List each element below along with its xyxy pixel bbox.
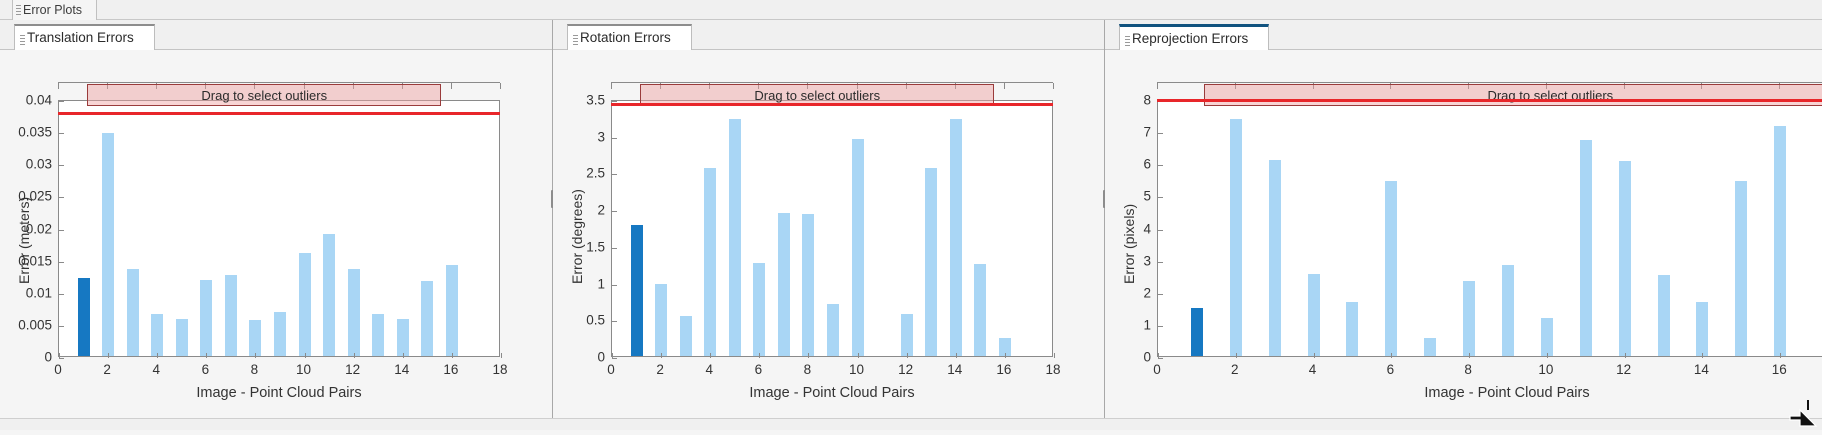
panel-translation-errors: Translation Errors 00.0050.010.0150.020.… <box>0 20 552 430</box>
x-tick-mark <box>858 353 859 358</box>
x-tick-label: 10 <box>296 362 311 377</box>
x-tick-label: 16 <box>996 362 1011 377</box>
y-tick-mark <box>612 248 617 249</box>
bar[interactable] <box>655 284 667 356</box>
chart-translation-errors: 00.0050.010.0150.020.0250.030.0350.04024… <box>0 50 552 430</box>
x-tick-mark <box>305 353 306 358</box>
x-tick-mark <box>1236 353 1237 358</box>
bar[interactable] <box>1580 140 1592 356</box>
y-tick-label: 0.035 <box>0 125 52 140</box>
x-tick-label: 8 <box>804 362 812 377</box>
band-tick <box>1157 83 1158 89</box>
y-tick-mark <box>612 285 617 286</box>
x-tick-label: 14 <box>394 362 409 377</box>
y-tick-mark <box>59 165 64 166</box>
x-tick-label: 12 <box>345 362 360 377</box>
x-tick-mark <box>710 353 711 358</box>
bar[interactable] <box>1619 161 1631 356</box>
x-tick-mark <box>1547 353 1548 358</box>
y-tick-label: 7 <box>1091 125 1151 140</box>
y-tick-label: 0 <box>545 350 605 365</box>
bar[interactable] <box>299 253 311 356</box>
x-tick-mark <box>612 353 613 358</box>
y-axis-label: Error (meters) <box>16 196 32 283</box>
x-tick-label: 12 <box>1616 362 1631 377</box>
tab-label: Translation Errors <box>27 30 134 45</box>
y-tick-mark <box>612 321 617 322</box>
bar[interactable] <box>753 263 765 356</box>
document-tab-label: Error Plots <box>23 3 82 17</box>
x-tick-label: 10 <box>1538 362 1553 377</box>
y-tick-label: 5 <box>1091 189 1151 204</box>
bar[interactable] <box>1424 338 1436 356</box>
y-tick-mark <box>1158 294 1163 295</box>
tab-translation-errors[interactable]: Translation Errors <box>14 24 155 50</box>
x-tick-mark <box>759 353 760 358</box>
bar[interactable] <box>176 319 188 356</box>
x-tick-label: 6 <box>755 362 763 377</box>
x-tick-mark <box>452 353 453 358</box>
x-tick-mark <box>1005 353 1006 358</box>
x-axis-label: Image - Point Cloud Pairs <box>58 385 500 401</box>
x-tick-label: 18 <box>1045 362 1060 377</box>
y-tick-label: 0.01 <box>0 285 52 300</box>
bar[interactable] <box>372 314 384 356</box>
outlier-threshold-line[interactable] <box>1157 99 1822 102</box>
x-tick-label: 8 <box>1464 362 1472 377</box>
bar[interactable] <box>827 304 839 356</box>
x-tick-label: 16 <box>1772 362 1787 377</box>
y-tick-mark <box>1158 230 1163 231</box>
y-tick-label: 3.5 <box>545 93 605 108</box>
x-tick-mark <box>354 353 355 358</box>
x-tick-label: 4 <box>1309 362 1317 377</box>
x-tick-mark <box>1054 353 1055 358</box>
bar[interactable] <box>778 213 790 356</box>
bar[interactable] <box>421 281 433 356</box>
axes-reprojection <box>1157 100 1822 357</box>
y-tick-label: 0.03 <box>0 157 52 172</box>
band-tick <box>451 83 452 89</box>
tab-drag-grip-icon[interactable] <box>573 35 578 46</box>
x-tick-label: 12 <box>898 362 913 377</box>
bar[interactable] <box>78 278 90 356</box>
bar[interactable] <box>1230 119 1242 356</box>
y-tick-mark <box>59 101 64 102</box>
x-tick-mark <box>403 353 404 358</box>
tabstrip-rotation: Rotation Errors <box>553 20 1104 50</box>
bar[interactable] <box>1658 275 1670 356</box>
x-tick-label: 0 <box>1153 362 1161 377</box>
bar[interactable] <box>680 316 692 356</box>
bar[interactable] <box>1463 281 1475 356</box>
y-axis-label: Error (pixels) <box>1121 203 1137 283</box>
bar[interactable] <box>225 275 237 356</box>
outlier-selector-band[interactable]: Drag to select outliers <box>87 84 441 106</box>
y-tick-label: 2 <box>1091 285 1151 300</box>
y-tick-mark <box>1158 358 1163 359</box>
bar[interactable] <box>901 314 913 356</box>
y-tick-mark <box>612 211 617 212</box>
bar[interactable] <box>1191 308 1203 356</box>
band-tick <box>1004 83 1005 89</box>
x-tick-mark <box>808 353 809 358</box>
y-tick-mark <box>1158 326 1163 327</box>
bar[interactable] <box>704 168 716 356</box>
document-tabstrip: Error Plots <box>0 0 1822 20</box>
x-tick-label: 14 <box>1694 362 1709 377</box>
bar[interactable] <box>127 269 139 356</box>
bar[interactable] <box>1735 181 1747 356</box>
y-tick-label: 0 <box>1091 350 1151 365</box>
bar[interactable] <box>249 320 261 356</box>
y-axis-label: Error (degrees) <box>569 189 585 284</box>
y-tick-label: 1 <box>1091 317 1151 332</box>
x-tick-label: 6 <box>202 362 210 377</box>
x-tick-mark <box>661 353 662 358</box>
tabstrip-reprojection: Reprojection Errors <box>1105 20 1822 50</box>
y-tick-mark <box>612 174 617 175</box>
chart-rotation-errors: 00.511.522.533.5024681012141618Error (de… <box>553 50 1105 430</box>
tab-drag-grip-icon[interactable] <box>1125 36 1130 47</box>
y-tick-label: 0.04 <box>0 93 52 108</box>
bar[interactable] <box>348 269 360 356</box>
y-tick-label: 8 <box>1091 93 1151 108</box>
x-tick-mark <box>501 353 502 358</box>
y-tick-mark <box>59 262 64 263</box>
y-tick-label: 3 <box>545 129 605 144</box>
x-axis-label: Image - Point Cloud Pairs <box>611 385 1053 401</box>
bar[interactable] <box>102 133 114 356</box>
x-tick-mark <box>1780 353 1781 358</box>
x-tick-label: 16 <box>443 362 458 377</box>
bar[interactable] <box>1502 265 1514 356</box>
x-tick-label: 2 <box>1231 362 1239 377</box>
tab-rotation-errors[interactable]: Rotation Errors <box>567 24 692 50</box>
outlier-threshold-line[interactable] <box>58 112 500 115</box>
bar[interactable] <box>950 119 962 356</box>
chart-reprojection-errors: 012345678024681012141618Error (pixels)Im… <box>1105 50 1822 430</box>
tab-label: Reprojection Errors <box>1132 31 1248 46</box>
tab-label: Rotation Errors <box>580 30 671 45</box>
bar[interactable] <box>200 280 212 356</box>
band-tick <box>58 83 59 89</box>
x-tick-mark <box>255 353 256 358</box>
bar[interactable] <box>446 265 458 356</box>
y-tick-mark <box>59 294 64 295</box>
x-tick-label: 0 <box>607 362 615 377</box>
x-tick-mark <box>1314 353 1315 358</box>
bar[interactable] <box>1696 302 1708 356</box>
bar[interactable] <box>925 168 937 356</box>
drag-grip-icon[interactable] <box>16 5 21 16</box>
x-tick-label: 10 <box>849 362 864 377</box>
bar[interactable] <box>397 319 409 356</box>
x-tick-mark <box>956 353 957 358</box>
x-tick-label: 2 <box>103 362 111 377</box>
x-tick-mark <box>206 353 207 358</box>
x-tick-label: 18 <box>492 362 507 377</box>
y-tick-label: 6 <box>1091 157 1151 172</box>
x-tick-mark <box>1391 353 1392 358</box>
bar[interactable] <box>274 312 286 356</box>
bar[interactable] <box>323 234 335 356</box>
bar[interactable] <box>974 264 986 356</box>
band-tick <box>611 83 612 89</box>
x-tick-mark <box>1625 353 1626 358</box>
x-tick-label: 6 <box>1387 362 1395 377</box>
bar[interactable] <box>729 119 741 356</box>
x-axis-label: Image - Point Cloud Pairs <box>1157 385 1822 401</box>
bar[interactable] <box>631 225 643 356</box>
y-tick-mark <box>59 326 64 327</box>
y-tick-label: 2.5 <box>545 166 605 181</box>
axes-translation <box>58 100 500 357</box>
axes-rotation <box>611 100 1053 357</box>
panel-reprojection-errors: Reprojection Errors 01234567802468101214… <box>1104 20 1822 430</box>
x-tick-mark <box>59 353 60 358</box>
y-tick-label: 0.005 <box>0 317 52 332</box>
y-tick-label: 0 <box>0 350 52 365</box>
band-tick <box>500 83 501 89</box>
bottom-status-strip <box>0 418 1822 430</box>
y-tick-mark <box>59 197 64 198</box>
bar[interactable] <box>151 314 163 356</box>
tab-drag-grip-icon[interactable] <box>20 35 25 46</box>
y-tick-mark <box>1158 197 1163 198</box>
panel-rotation-errors: Rotation Errors 00.511.522.533.502468101… <box>552 20 1104 430</box>
x-tick-mark <box>157 353 158 358</box>
bar[interactable] <box>1774 126 1786 356</box>
resize-cursor-icon <box>1786 396 1820 430</box>
outlier-band-label: Drag to select outliers <box>201 89 327 102</box>
bar[interactable] <box>1346 302 1358 356</box>
y-tick-mark <box>59 358 64 359</box>
y-tick-label: 0.5 <box>545 313 605 328</box>
outlier-selector-band[interactable]: Drag to select outliers <box>1204 84 1822 106</box>
bar[interactable] <box>1541 318 1553 356</box>
y-tick-mark <box>1158 262 1163 263</box>
outlier-band-label: Drag to select outliers <box>754 89 880 102</box>
tabstrip-translation: Translation Errors <box>0 20 552 50</box>
x-tick-label: 2 <box>656 362 664 377</box>
y-tick-mark <box>1158 165 1163 166</box>
y-tick-mark <box>59 230 64 231</box>
outlier-threshold-line[interactable] <box>611 103 1053 106</box>
x-tick-label: 0 <box>54 362 62 377</box>
panel-container: Translation Errors 00.0050.010.0150.020.… <box>0 20 1822 430</box>
x-tick-mark <box>108 353 109 358</box>
document-tab-error-plots[interactable]: Error Plots <box>12 0 97 20</box>
y-tick-mark <box>1158 133 1163 134</box>
bar[interactable] <box>1269 160 1281 356</box>
tab-reprojection-errors[interactable]: Reprojection Errors <box>1119 24 1269 50</box>
x-tick-mark <box>1702 353 1703 358</box>
x-tick-label: 4 <box>152 362 160 377</box>
y-tick-mark <box>612 138 617 139</box>
bar[interactable] <box>1308 274 1320 356</box>
bar[interactable] <box>1385 181 1397 356</box>
y-tick-mark <box>612 358 617 359</box>
bar[interactable] <box>852 139 864 356</box>
y-tick-mark <box>59 133 64 134</box>
x-tick-label: 8 <box>251 362 259 377</box>
x-tick-mark <box>1469 353 1470 358</box>
x-tick-mark <box>1158 353 1159 358</box>
band-tick <box>1053 83 1054 89</box>
bar[interactable] <box>802 214 814 356</box>
x-tick-mark <box>907 353 908 358</box>
x-tick-label: 14 <box>947 362 962 377</box>
x-tick-label: 4 <box>705 362 713 377</box>
